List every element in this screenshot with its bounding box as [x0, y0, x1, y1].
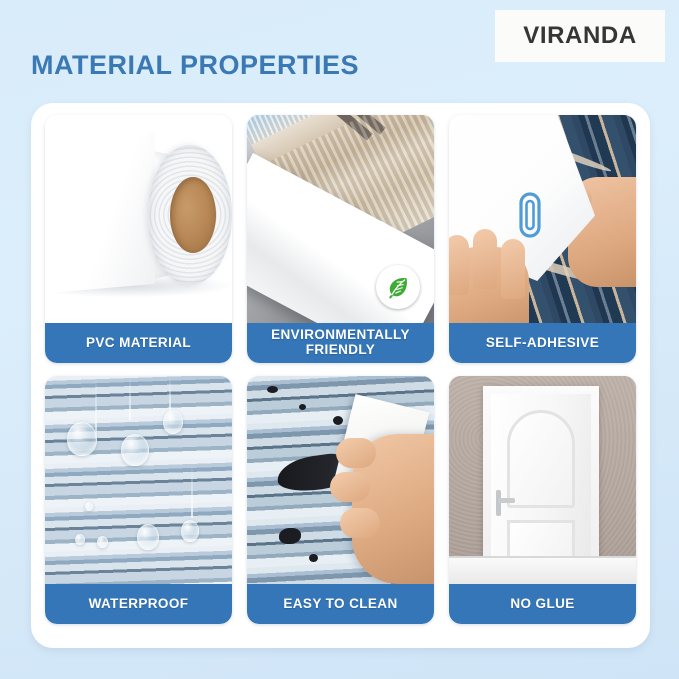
water-droplet — [137, 524, 159, 550]
feature-label-easy-to-clean: EASY TO CLEAN — [247, 584, 434, 624]
water-droplet — [121, 434, 149, 466]
feature-card-waterproof[interactable]: WATERPROOF — [45, 376, 232, 624]
left-hand — [449, 247, 529, 323]
features-panel: PVC MATERIAL — [31, 103, 650, 648]
brand-logo: VIRANDA — [495, 10, 665, 62]
features-grid: PVC MATERIAL — [45, 115, 636, 624]
paperclip-icon — [515, 191, 545, 239]
knuckle — [330, 472, 370, 502]
door-handle-plate — [496, 490, 501, 516]
knuckle — [336, 438, 376, 468]
feature-card-self-adhesive[interactable]: SELF-ADHESIVE — [449, 115, 636, 363]
peeling-wallpaper-photo — [247, 115, 434, 323]
page-header: MATERIAL PROPERTIES VIRANDA — [0, 0, 679, 103]
knuckle — [340, 508, 380, 538]
door-panel-top — [507, 410, 575, 508]
water-droplet — [85, 502, 93, 511]
feature-label-pvc-material: PVC MATERIAL — [45, 323, 232, 363]
feature-card-no-glue[interactable]: NO GLUE — [449, 376, 636, 624]
water-trail — [129, 376, 131, 420]
water-droplet — [97, 536, 108, 548]
brand-logo-text: VIRANDA — [523, 22, 637, 50]
feature-label-self-adhesive: SELF-ADHESIVE — [449, 323, 636, 363]
door-frame — [483, 386, 599, 576]
pier-post — [351, 115, 386, 135]
stain-spot — [299, 404, 306, 410]
roll-cardboard-core — [170, 177, 216, 253]
feature-card-environmentally-friendly[interactable]: ENVIRONMENTALLY FRIENDLY — [247, 115, 434, 363]
roll-sheet — [45, 132, 155, 294]
paperclip-icon-wrap — [515, 191, 545, 244]
door-leaf — [491, 394, 591, 576]
water-droplet — [163, 410, 183, 434]
baseboard — [449, 556, 636, 584]
feature-label-waterproof: WATERPROOF — [45, 584, 232, 624]
stain-spot — [267, 386, 278, 393]
hand-holding-cloth — [352, 434, 434, 584]
eco-badge — [376, 265, 420, 309]
water-trail — [169, 376, 171, 412]
feature-card-pvc-material[interactable]: PVC MATERIAL — [45, 115, 232, 363]
water-trail — [95, 376, 97, 438]
feature-label-line2: FRIENDLY — [306, 342, 375, 357]
leaf-icon — [385, 274, 411, 300]
hands-peeling-backing-photo — [449, 115, 636, 323]
pier-post — [332, 115, 373, 141]
feature-card-easy-to-clean[interactable]: EASY TO CLEAN — [247, 376, 434, 624]
stain-spot — [309, 554, 318, 562]
wiping-cloth-photo — [247, 376, 434, 584]
white-door-photo — [449, 376, 636, 584]
water-droplets-photo — [45, 376, 232, 584]
stain-spot — [279, 528, 301, 544]
feature-label-no-glue: NO GLUE — [449, 584, 636, 624]
finger — [473, 229, 497, 289]
water-trail — [191, 464, 193, 518]
stain-spot — [333, 416, 343, 425]
door-handle — [498, 498, 515, 503]
feature-label-line1: ENVIRONMENTALLY — [271, 327, 410, 342]
water-droplet — [181, 520, 199, 542]
pvc-roll-photo — [45, 115, 232, 323]
water-droplet — [67, 422, 97, 456]
feature-label-environmentally-friendly: ENVIRONMENTALLY FRIENDLY — [247, 323, 434, 363]
water-droplet — [75, 534, 85, 545]
finger — [449, 235, 469, 295]
finger — [501, 239, 525, 299]
page-title: MATERIAL PROPERTIES — [31, 50, 359, 81]
